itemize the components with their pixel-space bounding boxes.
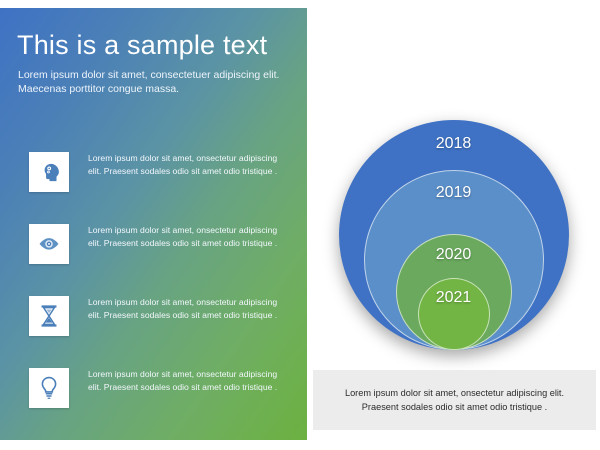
circle-label-2021: 2021 [436,290,472,349]
list-item[interactable]: Lorem ipsum dolor sit amet, onsectetur a… [0,364,307,436]
page-title: This is a sample text [17,30,267,61]
hourglass-icon [29,296,69,336]
lightbulb-icon [29,368,69,408]
list-item-label: Lorem ipsum dolor sit amet, onsectetur a… [88,224,288,250]
concentric-circles-chart: 2018 2019 2020 2021 [307,0,600,370]
list-item[interactable]: Lorem ipsum dolor sit amet, onsectetur a… [0,292,307,364]
feature-list: Lorem ipsum dolor sit amet, onsectetur a… [0,148,307,436]
caption-panel: Lorem ipsum dolor sit amet, onsectetur a… [313,370,596,430]
caption-text: Lorem ipsum dolor sit amet, onsectetur a… [330,386,580,415]
eye-icon [29,224,69,264]
head-brain-icon [29,152,69,192]
left-content-panel: This is a sample text Lorem ipsum dolor … [0,8,307,440]
page-subtitle: Lorem ipsum dolor sit amet, consectetuer… [18,68,288,96]
list-item-label: Lorem ipsum dolor sit amet, onsectetur a… [88,152,288,178]
list-item[interactable]: Lorem ipsum dolor sit amet, onsectetur a… [0,220,307,292]
list-item-label: Lorem ipsum dolor sit amet, onsectetur a… [88,368,288,394]
circle-segment-2021[interactable]: 2021 [418,278,490,350]
list-item[interactable]: Lorem ipsum dolor sit amet, onsectetur a… [0,148,307,220]
list-item-label: Lorem ipsum dolor sit amet, onsectetur a… [88,296,288,322]
